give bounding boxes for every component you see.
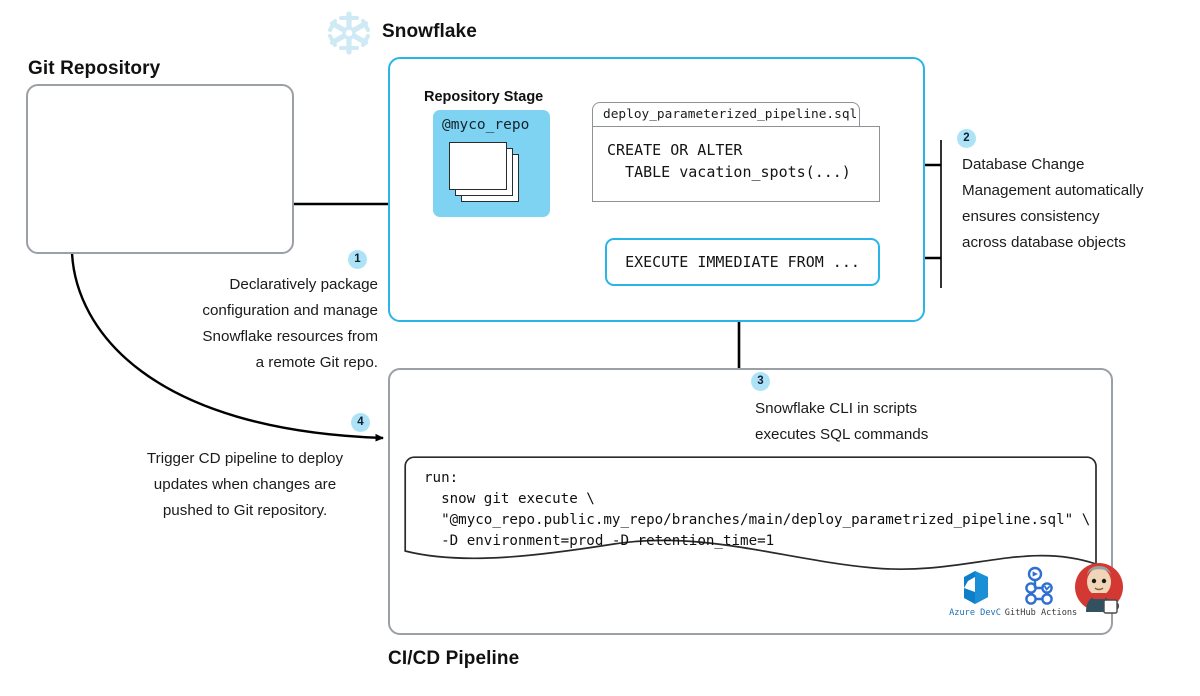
snowflake-logo — [326, 10, 372, 56]
azure-devops-logo — [955, 568, 995, 608]
snowflake-heading: Snowflake — [382, 21, 477, 43]
sql-file-code: CREATE OR ALTER TABLE vacation_spots(...… — [607, 139, 879, 183]
annotation-2-text: Database Change Management automatically… — [962, 152, 1196, 256]
sql-file-tab: deploy_parameterized_pipeline.sql — [592, 102, 860, 126]
annotation-2-line-2: Management automatically — [962, 178, 1196, 204]
annotation-4-text: Trigger CD pipeline to deploy updates wh… — [116, 446, 374, 524]
git-repository-heading: Git Repository — [28, 58, 160, 80]
cicd-pipeline-heading: CI/CD Pipeline — [388, 648, 519, 670]
stacked-documents-icon — [449, 142, 521, 204]
annotation-4-line-1: Trigger CD pipeline to deploy — [116, 446, 374, 472]
annotation-1-text: Declaratively package configuration and … — [108, 272, 378, 376]
step-badge-1: 1 — [348, 250, 367, 269]
annotation-2-line-3: ensures consistency — [962, 204, 1196, 230]
github-actions-logo — [1021, 566, 1061, 608]
repository-stage-block: @myco_repo — [433, 110, 550, 217]
github-actions-logo-cell: GitHub Actions — [1004, 566, 1078, 618]
annotation-3-line-1: Snowflake CLI in scripts — [755, 396, 995, 422]
github-actions-caption: GitHub Actions — [1005, 608, 1077, 618]
jenkins-logo — [1072, 560, 1126, 618]
annotation-1-line-1: Declaratively package — [108, 272, 378, 298]
pipeline-script-text: run: snow git execute \ "@myco_repo.publ… — [424, 468, 1090, 552]
annotation-1-line-2: configuration and manage — [108, 298, 378, 324]
azure-devops-logo-cell: Azure DevC — [944, 568, 1006, 618]
annotation-2-line-4: across database objects — [962, 230, 1196, 256]
sql-file-name: deploy_parameterized_pipeline.sql — [603, 107, 857, 122]
annotation-3-text: Snowflake CLI in scripts executes SQL co… — [755, 396, 995, 448]
git-repository-panel — [26, 84, 294, 254]
step-badge-2: 2 — [957, 129, 976, 148]
pipeline-script-card: run: snow git execute \ "@myco_repo.publ… — [404, 456, 1097, 568]
azure-devops-caption: Azure DevC — [949, 608, 1001, 618]
annotation-1-line-4: a remote Git repo. — [108, 350, 378, 376]
repository-stage-heading: Repository Stage — [424, 89, 543, 105]
annotation-1-line-3: Snowflake resources from — [108, 324, 378, 350]
step-badge-4: 4 — [351, 413, 370, 432]
execute-immediate-text: EXECUTE IMMEDIATE FROM ... — [625, 253, 860, 271]
jenkins-logo-cell — [1072, 560, 1126, 618]
annotation-4-line-2: updates when changes are — [116, 472, 374, 498]
sql-file-body: CREATE OR ALTER TABLE vacation_spots(...… — [592, 126, 880, 202]
execute-immediate-pill: EXECUTE IMMEDIATE FROM ... — [605, 238, 880, 286]
annotation-2-line-1: Database Change — [962, 152, 1196, 178]
step-badge-3: 3 — [751, 372, 770, 391]
repository-stage-name: @myco_repo — [442, 117, 529, 133]
diagram-canvas: Git Repository Snowflake Repository Stag… — [0, 0, 1200, 696]
annotation-4-line-3: pushed to Git repository. — [116, 498, 374, 524]
annotation-3-line-2: executes SQL commands — [755, 422, 995, 448]
